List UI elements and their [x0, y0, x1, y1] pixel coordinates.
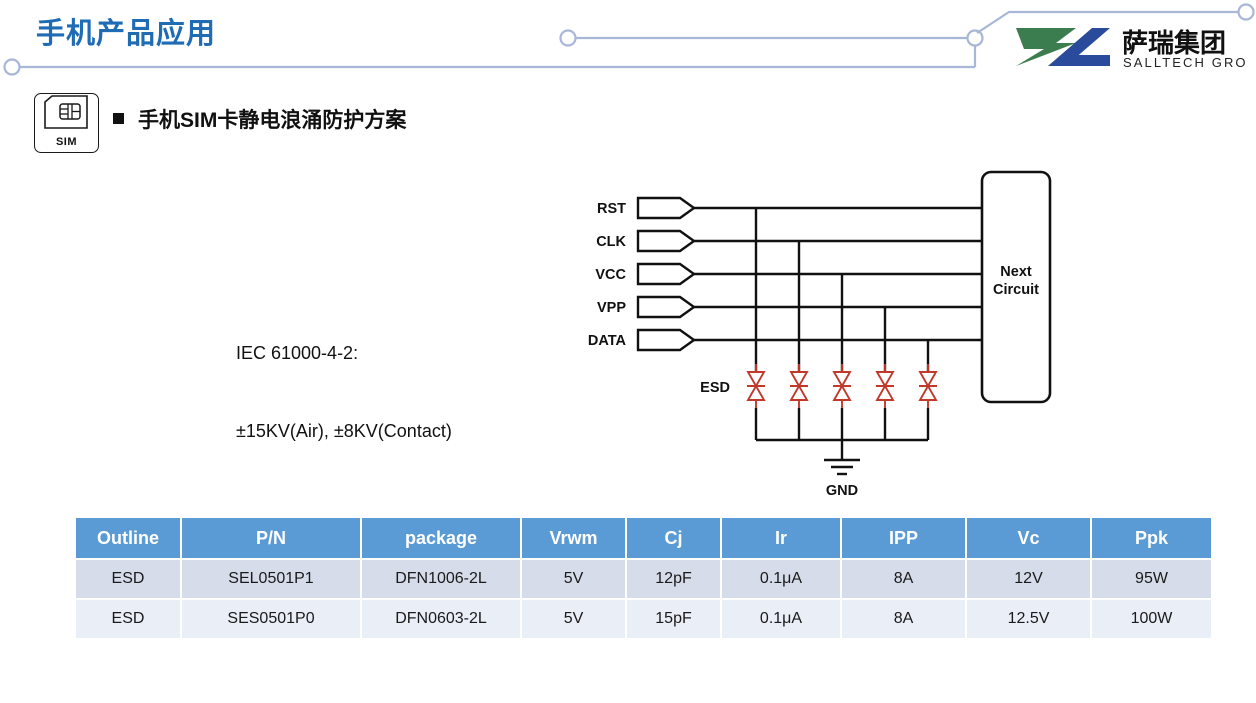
esd-diode-vcc — [833, 364, 851, 408]
next-circuit-label-line1: Next — [1000, 264, 1032, 280]
ground-symbol-icon — [824, 460, 860, 474]
logo-cn-name: 萨瑞集团 — [1122, 28, 1226, 58]
logo-en-name: SALLTECH GROUP — [1123, 55, 1246, 70]
sim-card-icon: SIM — [34, 93, 99, 153]
column-header-package: package — [361, 518, 521, 559]
tap-wires — [756, 208, 928, 376]
cell-ppk: 95W — [1091, 559, 1211, 599]
column-header-pn: P/N — [181, 518, 361, 559]
cell-cj: 12pF — [626, 559, 721, 599]
section-title: 手机SIM卡静电浪涌防护方案 — [138, 104, 406, 134]
next-circuit-label-line2: Circuit — [993, 282, 1039, 298]
table-header-row: Outline P/N package Vrwm Cj Ir IPP Vc Pp… — [76, 518, 1211, 559]
cell-ppk: 100W — [1091, 599, 1211, 639]
signal-label-vcc: VCC — [595, 267, 626, 283]
connector-vpp — [638, 297, 694, 317]
table-row: ESD SES0501P0 DFN0603-2L 5V 15pF 0.1μA 8… — [76, 599, 1211, 639]
decoration-node-right — [1239, 5, 1254, 20]
column-header-ipp: IPP — [841, 518, 966, 559]
cell-vrwm: 5V — [521, 599, 626, 639]
decoration-node-junction — [968, 31, 983, 46]
cell-ir: 0.1μA — [721, 559, 841, 599]
page-title: 手机产品应用 — [36, 10, 216, 52]
esd-standard-note: IEC 61000-4-2: ±15KV(Air), ±8KV(Contact) — [236, 288, 452, 496]
cell-vc: 12V — [966, 559, 1091, 599]
esd-standard-line2: ±15KV(Air), ±8KV(Contact) — [236, 418, 452, 444]
esd-spec-table: Outline P/N package Vrwm Cj Ir IPP Vc Pp… — [76, 518, 1211, 640]
connector-vcc — [638, 264, 694, 284]
sim-card-glyph — [35, 94, 98, 138]
signal-label-clk: CLK — [596, 234, 626, 250]
esd-diode-rst — [747, 364, 765, 408]
connector-clk — [638, 231, 694, 251]
cell-vc: 12.5V — [966, 599, 1091, 639]
signal-labels: RST CLK VCC VPP DATA — [588, 201, 627, 349]
column-header-vrwm: Vrwm — [521, 518, 626, 559]
esd-diode-clk — [790, 364, 808, 408]
ground-rail — [756, 408, 928, 460]
cell-package: DFN0603-2L — [361, 599, 521, 639]
esd-diode-vpp — [876, 364, 894, 408]
esd-standard-line1: IEC 61000-4-2: — [236, 340, 452, 366]
signal-label-vpp: VPP — [597, 300, 626, 316]
column-header-ir: Ir — [721, 518, 841, 559]
column-header-cj: Cj — [626, 518, 721, 559]
cell-cj: 15pF — [626, 599, 721, 639]
brand-logo: 萨瑞集团 SALLTECH GROUP — [1014, 22, 1246, 72]
esd-diodes — [747, 364, 937, 408]
sim-icon-label: SIM — [35, 136, 98, 148]
signal-label-rst: RST — [597, 201, 626, 217]
column-header-ppk: Ppk — [1091, 518, 1211, 559]
signal-connectors — [638, 198, 694, 350]
decoration-node-left — [5, 60, 20, 75]
section-bullet-icon — [113, 113, 124, 124]
cell-vrwm: 5V — [521, 559, 626, 599]
table-row: ESD SEL0501P1 DFN1006-2L 5V 12pF 0.1μA 8… — [76, 559, 1211, 599]
cell-ipp: 8A — [841, 559, 966, 599]
signal-wires — [693, 208, 983, 340]
cell-pn: SES0501P0 — [181, 599, 361, 639]
slide-root: 手机产品应用 萨瑞集团 SALLTECH GROUP — [0, 0, 1256, 703]
cell-outline: ESD — [76, 599, 181, 639]
decoration-node-middle — [561, 31, 576, 46]
column-header-vc: Vc — [966, 518, 1091, 559]
cell-pn: SEL0501P1 — [181, 559, 361, 599]
esd-diode-data — [919, 364, 937, 408]
cell-ipp: 8A — [841, 599, 966, 639]
signal-label-data: DATA — [588, 333, 627, 349]
column-header-outline: Outline — [76, 518, 181, 559]
cell-outline: ESD — [76, 559, 181, 599]
esd-protection-circuit-diagram: RST CLK VCC VPP DATA — [560, 160, 1080, 510]
gnd-label: GND — [826, 483, 858, 499]
cell-package: DFN1006-2L — [361, 559, 521, 599]
connector-data — [638, 330, 694, 350]
cell-ir: 0.1μA — [721, 599, 841, 639]
esd-label: ESD — [700, 380, 730, 396]
connector-rst — [638, 198, 694, 218]
